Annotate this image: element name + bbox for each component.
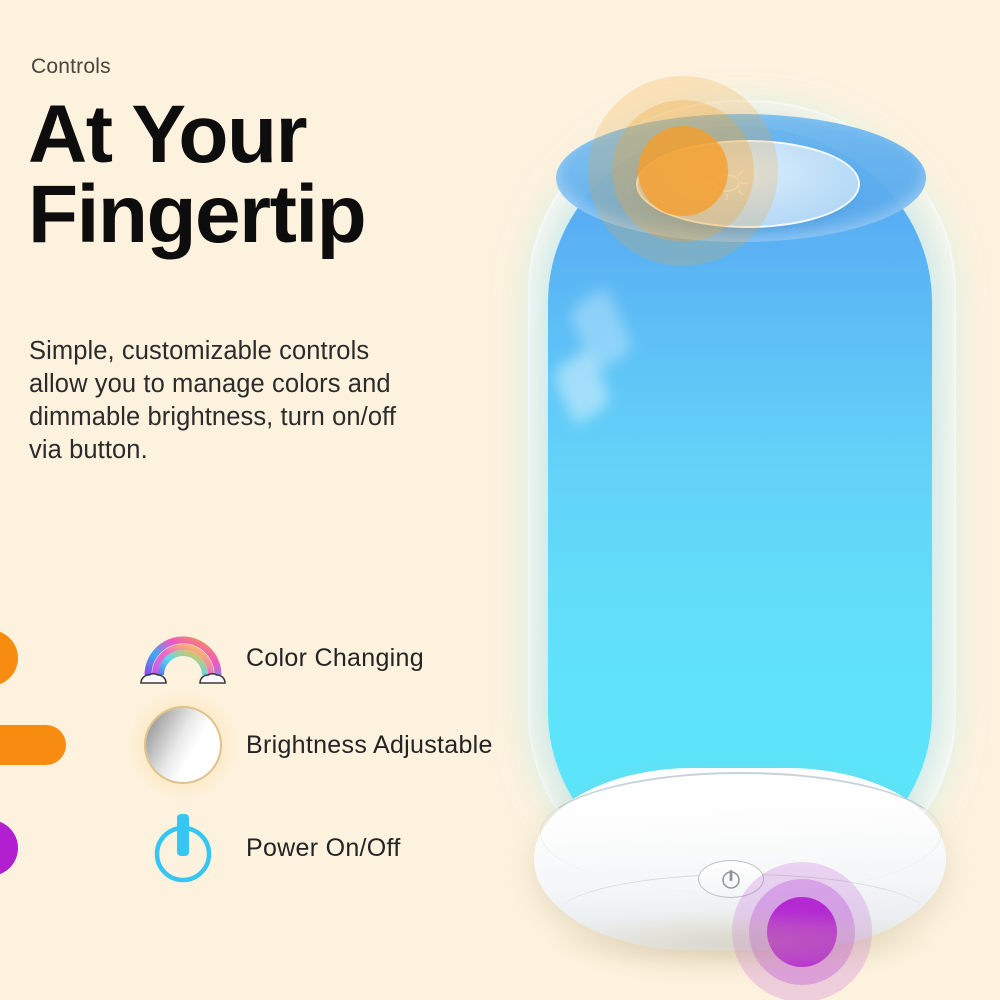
product-feature-card: Controls At Your Fingertip Simple, custo… bbox=[0, 0, 1000, 1000]
power-icon bbox=[128, 810, 238, 886]
glowing-sphere-icon bbox=[128, 708, 238, 782]
rainbow-icon bbox=[128, 627, 238, 689]
eyebrow-label: Controls bbox=[31, 55, 111, 79]
swatch-orange-pill bbox=[0, 725, 70, 765]
swatch-purple-circle bbox=[0, 820, 70, 876]
description-line-1: Simple, customizable controls bbox=[29, 335, 469, 368]
description-text: Simple, customizable controls allow you … bbox=[29, 335, 469, 468]
feature-label: Power On/Off bbox=[246, 834, 401, 863]
description-line-4: via button. bbox=[29, 434, 469, 467]
feature-item-brightness-adjustable: Brightness Adjustable bbox=[0, 697, 520, 793]
product-image-touch-lamp bbox=[486, 78, 986, 978]
feature-item-power-on-off: Power On/Off bbox=[0, 800, 520, 896]
description-line-3: dimmable brightness, turn on/off bbox=[29, 401, 469, 434]
feature-label: Color Changing bbox=[246, 644, 424, 673]
top-tap-indicator bbox=[588, 76, 778, 266]
feature-item-color-changing: Color Changing bbox=[0, 610, 520, 706]
description-line-2: allow you to manage colors and bbox=[29, 368, 469, 401]
swatch-orange-circle bbox=[0, 630, 70, 686]
lamp-contact-shadow bbox=[556, 914, 926, 970]
